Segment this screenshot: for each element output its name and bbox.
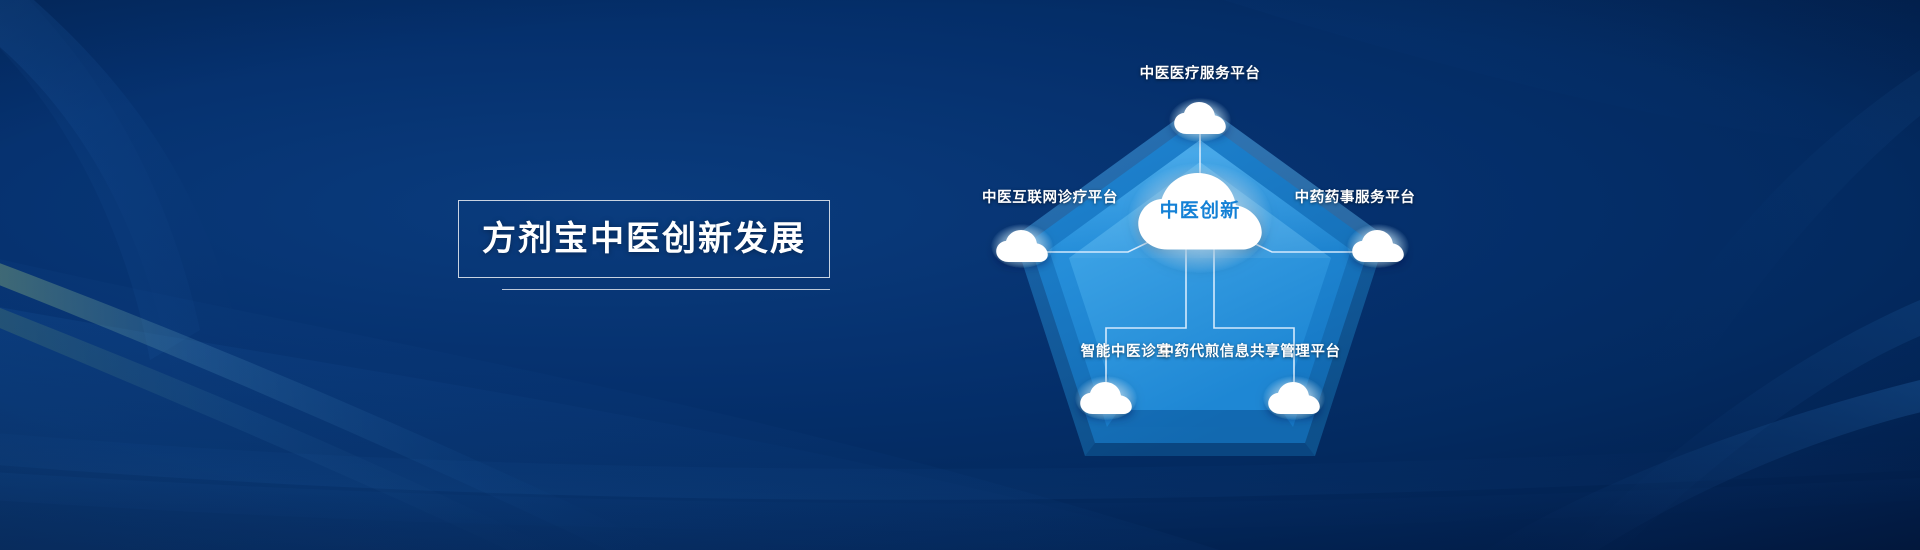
vertex-cloud-bottom-right [1263,376,1325,420]
banner-stage: 方剂宝中医创新发展 [0,0,1920,550]
vertex-cloud-top [1169,98,1231,142]
pentagon-diagram: 中医医疗服务平台 中医互联网诊疗平台 中药药事服务平台 智能中医诊室 中药代煎信… [930,40,1490,460]
node-label-bottom-left: 智能中医诊室 [1081,345,1172,360]
vertex-cloud-right [1347,224,1409,268]
node-label-top: 中医医疗服务平台 [1140,67,1261,82]
page-title: 方剂宝中医创新发展 [482,222,806,256]
pentagon-graphic [930,40,1490,460]
node-label-right: 中药药事服务平台 [1295,191,1416,206]
title-underline [502,289,830,290]
vertex-cloud-left [991,224,1053,268]
vertex-cloud-bottom-left [1075,376,1137,420]
node-label-bottom-right: 中药代煎信息共享管理平台 [1159,345,1340,360]
node-label-left: 中医互联网诊疗平台 [982,191,1118,206]
title-block: 方剂宝中医创新发展 [458,200,830,290]
center-cloud-label: 中医创新 [1160,202,1241,221]
title-frame: 方剂宝中医创新发展 [458,200,830,278]
